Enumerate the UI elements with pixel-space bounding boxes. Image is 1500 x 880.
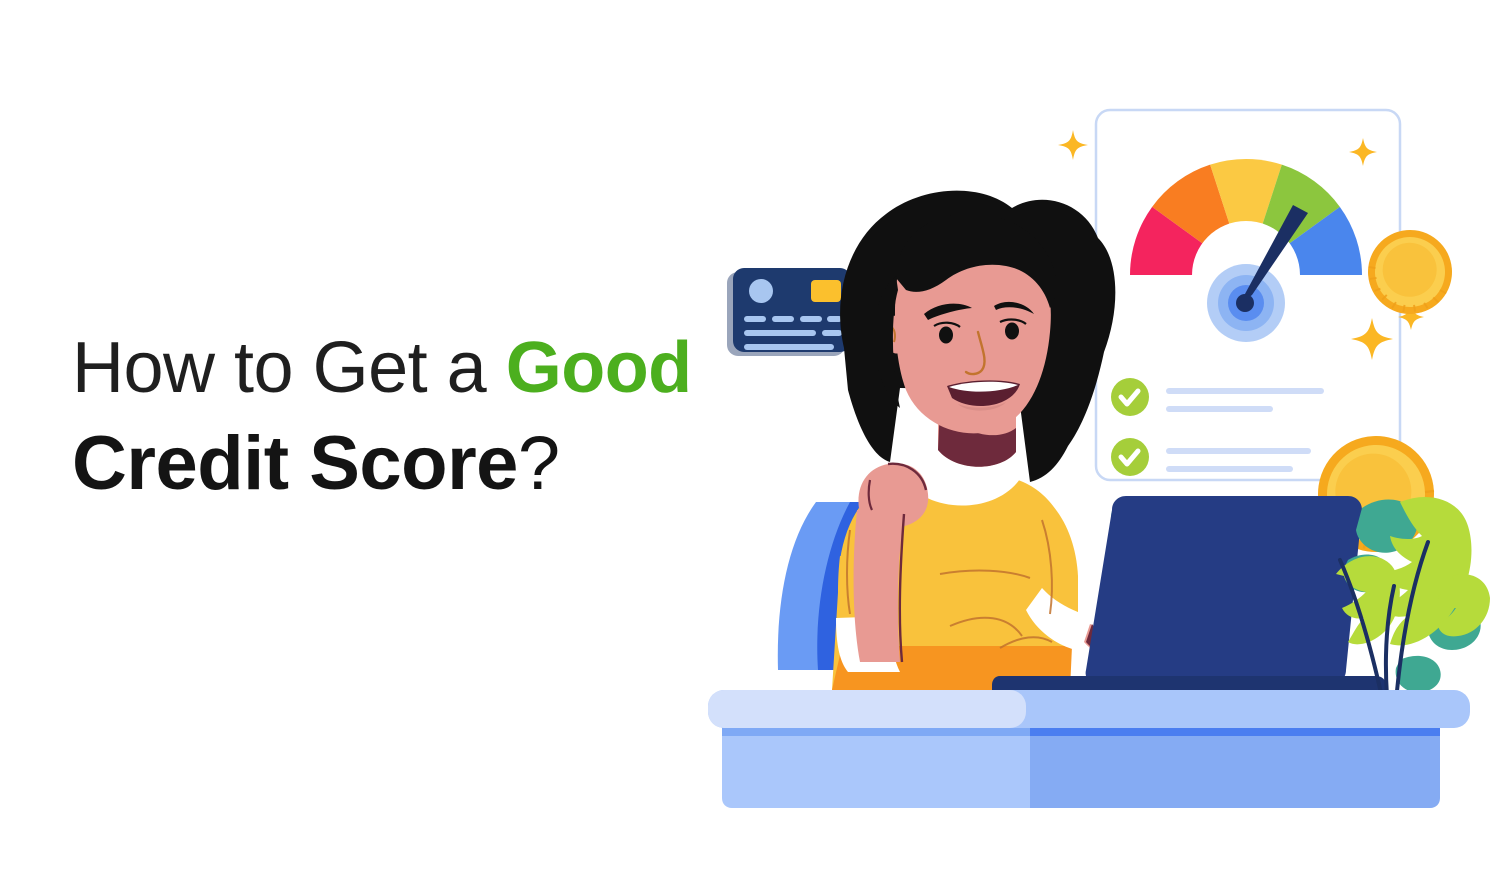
headline-question-mark: ? bbox=[518, 421, 560, 506]
credit-card-chip bbox=[811, 280, 841, 302]
checklist-text-line bbox=[1166, 406, 1273, 412]
checklist-text-line bbox=[1166, 388, 1324, 394]
headline-line-1-plain: How to Get a bbox=[72, 328, 506, 408]
headline-line-1: How to Get a Good bbox=[72, 330, 712, 406]
desk bbox=[708, 690, 1470, 808]
headline-accent-word: Good bbox=[506, 328, 692, 408]
sparkle-top-left-icon bbox=[1058, 130, 1088, 160]
eye-right bbox=[1005, 323, 1019, 340]
gauge-needle-pivot bbox=[1236, 294, 1254, 312]
page-title: How to Get a Good Credit Score? bbox=[72, 330, 712, 505]
checklist-text-line bbox=[1166, 448, 1311, 454]
headline-line-2: Credit Score? bbox=[72, 424, 712, 505]
credit-card-circle bbox=[749, 279, 773, 303]
eye-left bbox=[939, 327, 953, 344]
hero-illustration bbox=[700, 90, 1490, 830]
desk-front-left bbox=[722, 726, 1030, 808]
laptop-base bbox=[992, 676, 1386, 690]
forearm bbox=[854, 510, 904, 662]
checklist-text-line bbox=[1166, 466, 1293, 472]
credit-card bbox=[727, 268, 851, 356]
headline-line-2-bold: Credit Score bbox=[72, 421, 518, 506]
laptop-screen bbox=[1086, 496, 1362, 684]
poster-canvas: How to Get a Good Credit Score? bbox=[0, 0, 1500, 880]
desk-front-right bbox=[1030, 726, 1440, 808]
desk-top-slab-left bbox=[708, 690, 1026, 728]
